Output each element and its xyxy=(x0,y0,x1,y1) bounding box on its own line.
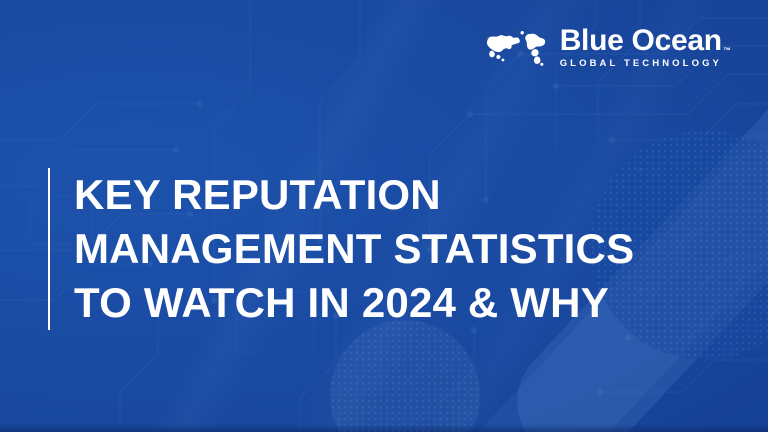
halftone-circle-bottom xyxy=(330,320,480,432)
headline-line-3: TO WATCH IN 2024 & WHY xyxy=(74,276,634,330)
trademark-icon: ™ xyxy=(723,47,731,55)
page-title: KEY REPUTATION MANAGEMENT STATISTICS TO … xyxy=(74,168,634,330)
accent-bar xyxy=(48,168,50,330)
headline-line-2: MANAGEMENT STATISTICS xyxy=(74,222,634,276)
headline-line-1: KEY REPUTATION xyxy=(74,168,634,222)
headline-block: KEY REPUTATION MANAGEMENT STATISTICS TO … xyxy=(48,168,634,330)
logo-brand-name: Blue Ocean™ xyxy=(560,26,722,56)
brand-logo[interactable]: Blue Ocean™ GLOBAL TECHNOLOGY xyxy=(477,26,722,69)
world-map-icon xyxy=(477,28,549,66)
logo-tagline: GLOBAL TECHNOLOGY xyxy=(560,59,722,69)
banner-slide: Blue Ocean™ GLOBAL TECHNOLOGY KEY REPUTA… xyxy=(0,0,768,432)
bottom-edge-shadow xyxy=(0,424,768,432)
logo-brand-name-text: Blue Ocean xyxy=(560,24,722,57)
logo-text-block: Blue Ocean™ GLOBAL TECHNOLOGY xyxy=(560,26,722,69)
